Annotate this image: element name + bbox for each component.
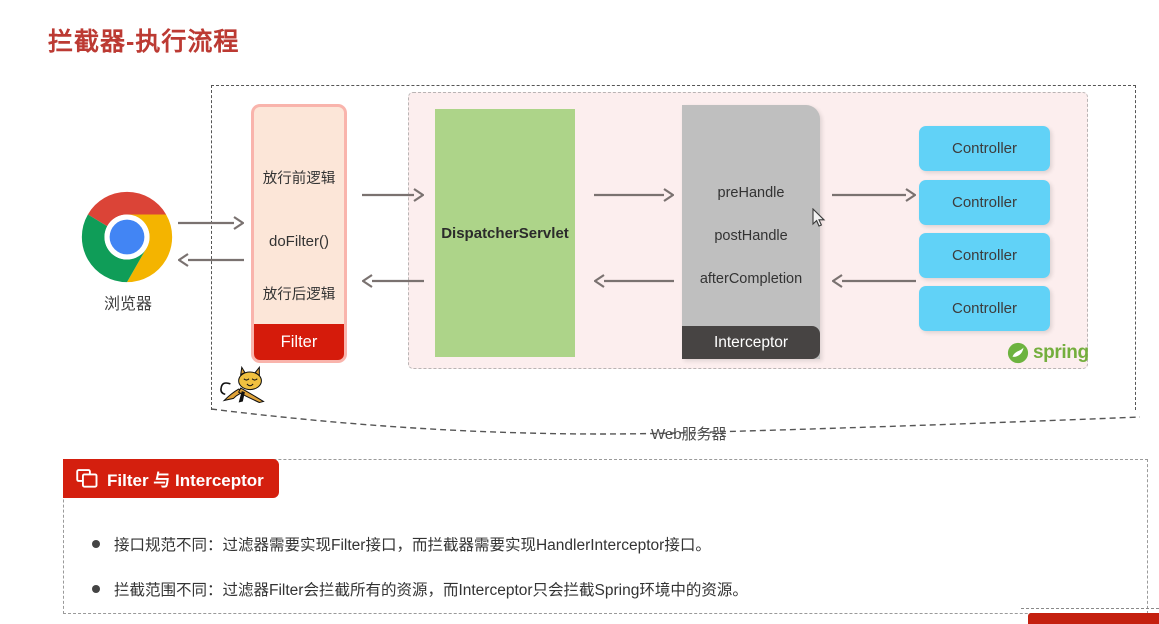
- filter-box: 放行前逻辑 doFilter() 放行后逻辑 Filter: [251, 104, 347, 363]
- controller-box[interactable]: Controller: [919, 233, 1050, 278]
- bullet-dot-icon: [92, 585, 100, 593]
- interceptor-posthandle-label: postHandle: [682, 228, 820, 244]
- controller-box[interactable]: Controller: [919, 286, 1050, 331]
- status-badge-label: Filter 与 Interceptor: [107, 466, 264, 491]
- browser-label: 浏览器: [83, 290, 173, 314]
- filter-footer-label: Filter: [254, 324, 344, 360]
- list-item: 拦截范围不同：过滤器Filter会拦截所有的资源，而Interceptor只会拦…: [92, 578, 748, 600]
- chrome-icon: [80, 190, 174, 284]
- windows-copy-icon: [76, 469, 98, 488]
- web-server-label: Web服务器: [651, 423, 727, 444]
- tomcat-cat-icon: [218, 366, 280, 408]
- mouse-cursor: [812, 208, 826, 228]
- arrow-filter-to-dispatcher: [362, 187, 424, 203]
- bullet-text: 拦截范围不同：过滤器Filter会拦截所有的资源，而Interceptor只会拦…: [114, 578, 748, 600]
- interceptor-box: preHandle postHandle afterCompletion Int…: [682, 105, 820, 359]
- filter-pre-logic-label: 放行前逻辑: [254, 167, 344, 188]
- spring-logo-text: spring: [1033, 342, 1089, 364]
- controller-box[interactable]: Controller: [919, 180, 1050, 225]
- dispatcher-servlet-box: DispatcherServlet: [435, 109, 575, 357]
- arrow-dispatcher-to-interceptor: [594, 187, 674, 203]
- list-item: 接口规范不同：过滤器需要实现Filter接口，而拦截器需要实现HandlerIn…: [92, 533, 711, 555]
- clipped-bottom-badge: [1028, 613, 1159, 624]
- interceptor-aftercompletion-label: afterCompletion: [682, 271, 820, 287]
- arrow-dispatcher-to-filter: [362, 273, 424, 289]
- arrow-controller-to-interceptor: [832, 273, 916, 289]
- filter-post-logic-label: 放行后逻辑: [254, 283, 344, 304]
- bullet-dot-icon: [92, 540, 100, 548]
- arrow-interceptor-to-controller: [832, 187, 916, 203]
- spring-logo: spring: [1007, 342, 1089, 364]
- arrow-browser-to-filter: [178, 215, 244, 231]
- controller-box[interactable]: Controller: [919, 126, 1050, 171]
- status-badge: Filter 与 Interceptor: [63, 459, 279, 498]
- interceptor-prehandle-label: preHandle: [682, 185, 820, 201]
- interceptor-footer-label: Interceptor: [682, 326, 820, 359]
- slide-root: 拦截器-执行流程 Web服务器 浏览器 放行前逻辑 doFilter() 放行后…: [0, 0, 1159, 624]
- bottom-divider: [1021, 608, 1159, 609]
- filter-dofilter-label: doFilter(): [254, 233, 344, 250]
- arrow-filter-to-browser: [178, 252, 244, 268]
- arrow-interceptor-to-dispatcher: [594, 273, 674, 289]
- bullet-text: 接口规范不同：过滤器需要实现Filter接口，而拦截器需要实现HandlerIn…: [114, 533, 711, 555]
- spring-leaf-icon: [1007, 342, 1029, 364]
- page-title: 拦截器-执行流程: [48, 22, 239, 58]
